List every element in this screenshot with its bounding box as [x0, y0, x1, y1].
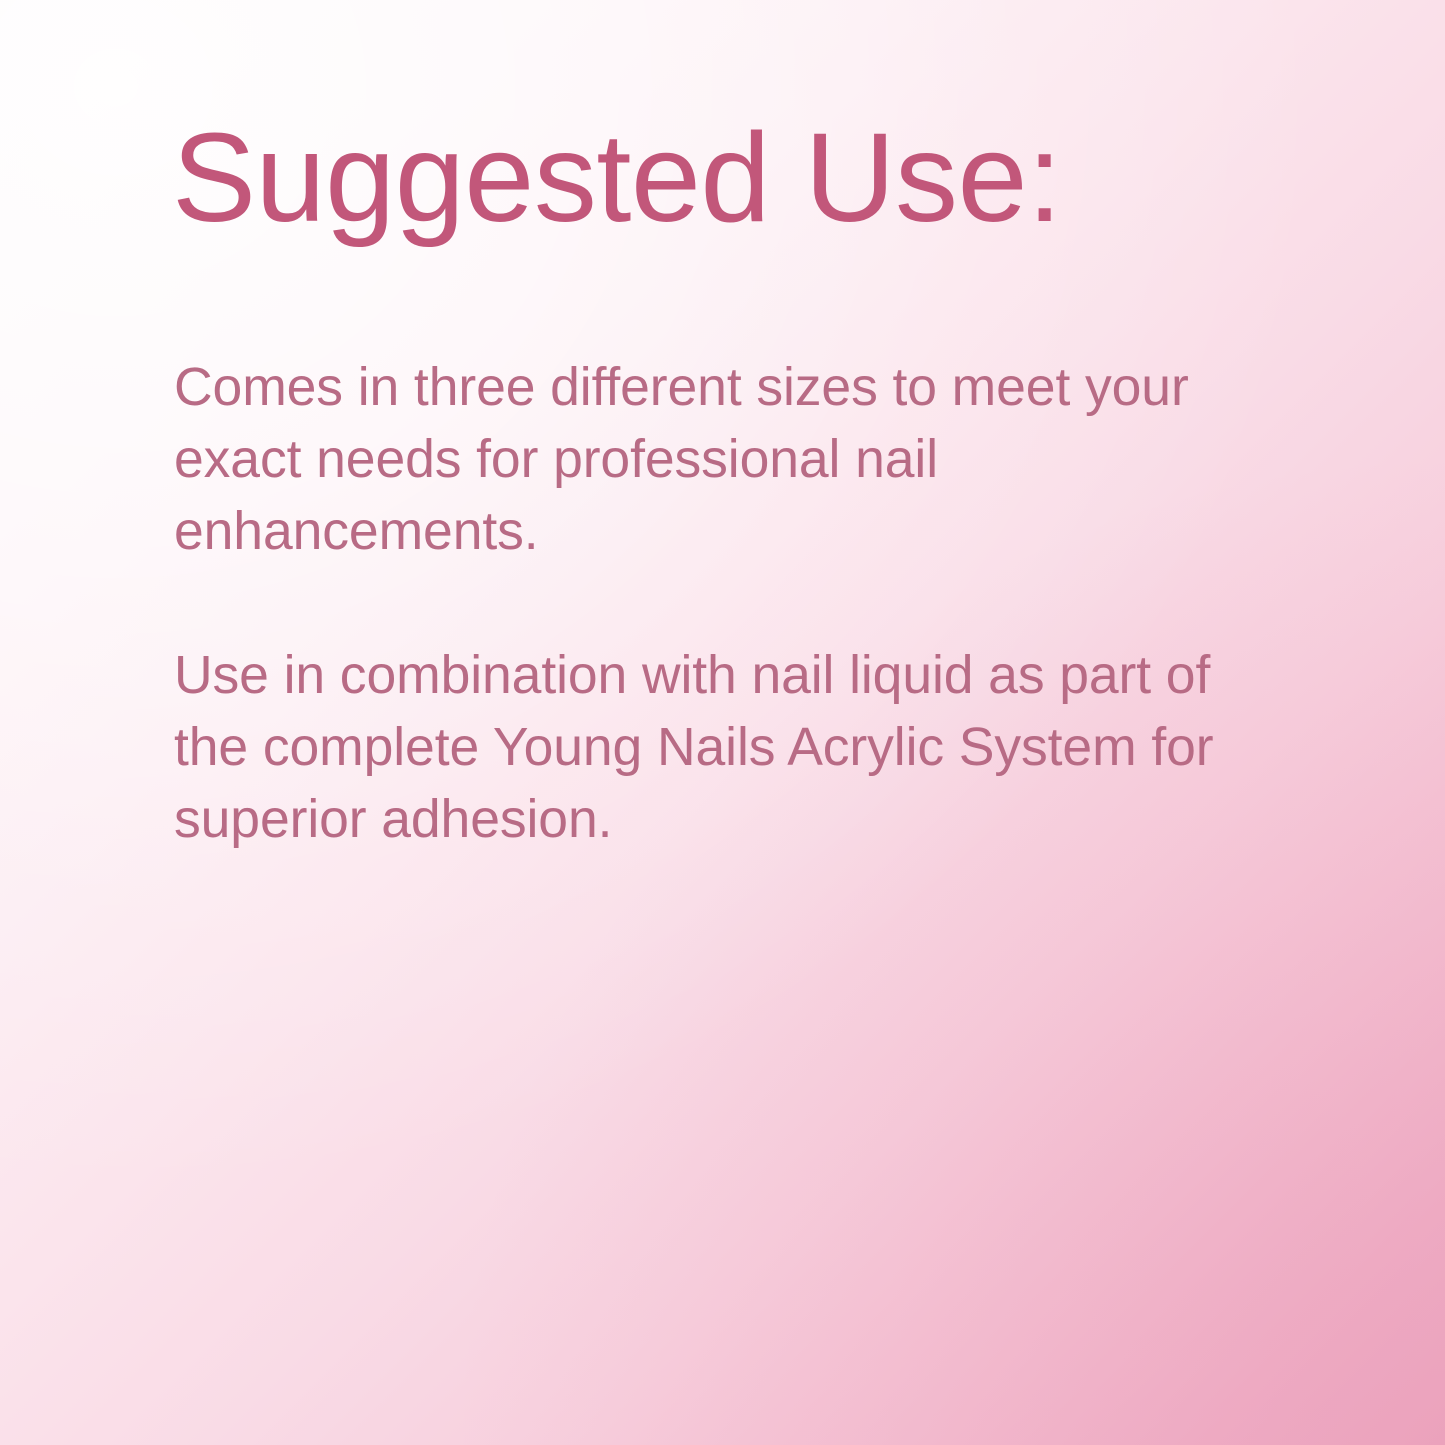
paragraph-usage: Use in combination with nail liquid as p…: [174, 640, 1222, 856]
body-copy: Comes in three different sizes to meet y…: [174, 352, 1222, 856]
page-title: Suggested Use:: [172, 115, 1062, 241]
suggested-use-card: Suggested Use: Comes in three different …: [0, 0, 1445, 1445]
paragraph-sizes: Comes in three different sizes to meet y…: [174, 352, 1222, 568]
content-wrapper: Suggested Use: Comes in three different …: [172, 0, 1232, 1445]
